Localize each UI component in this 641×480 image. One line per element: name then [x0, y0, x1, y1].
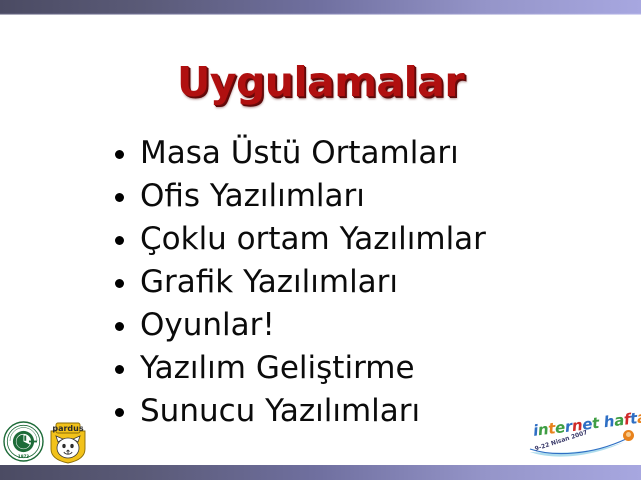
bullet-dot-icon	[115, 193, 124, 202]
list-item: Ofis Yazılımları	[112, 175, 612, 218]
list-item-label: Oyunlar!	[140, 304, 275, 347]
bullet-dot-icon	[115, 322, 124, 331]
list-item-label: Çoklu ortam Yazılımlar	[140, 218, 486, 261]
bullet-dot-icon	[115, 279, 124, 288]
list-item-label: Ofis Yazılımları	[140, 175, 365, 218]
bottom-decorative-bar	[0, 465, 641, 480]
list-item: Çoklu ortam Yazılımlar	[112, 218, 612, 261]
list-item-label: Grafik Yazılımları	[140, 261, 398, 304]
presentation-slide: Uygulamalar Masa Üstü Ortamları Ofis Yaz…	[0, 0, 641, 480]
list-item-label: Yazılım Geliştirme	[140, 347, 415, 390]
list-item: Yazılım Geliştirme	[112, 347, 612, 390]
bullet-dot-icon	[115, 236, 124, 245]
top-decorative-bar	[0, 0, 641, 14]
university-seal-logo: 1973	[3, 421, 44, 462]
bullet-dot-icon	[115, 408, 124, 417]
bullet-list: Masa Üstü Ortamları Ofis Yazılımları Çok…	[112, 132, 612, 433]
list-item-label: Sunucu Yazılımları	[140, 390, 420, 433]
list-item-label: Masa Üstü Ortamları	[140, 132, 459, 175]
university-seal-icon: 1973	[3, 421, 44, 462]
internet-haftasi-dot-icon	[623, 430, 634, 441]
ih-letter: t	[591, 414, 600, 433]
slide-title: Uygulamalar	[0, 58, 641, 106]
list-item: Masa Üstü Ortamları	[112, 132, 612, 175]
svg-text:pardus: pardus	[52, 424, 83, 433]
bullet-dot-icon	[115, 150, 124, 159]
list-item: Grafik Yazılımları	[112, 261, 612, 304]
list-item: Oyunlar!	[112, 304, 612, 347]
internet-haftasi-logo: internethaftası 9-22 Nisan 2007	[528, 418, 636, 464]
top-decorative-bar-edge	[0, 13, 641, 15]
pardus-logo: pardus	[47, 420, 89, 464]
svg-text:1973: 1973	[18, 454, 29, 459]
bullet-dot-icon	[115, 365, 124, 374]
pardus-leopard-icon: pardus	[47, 420, 89, 464]
